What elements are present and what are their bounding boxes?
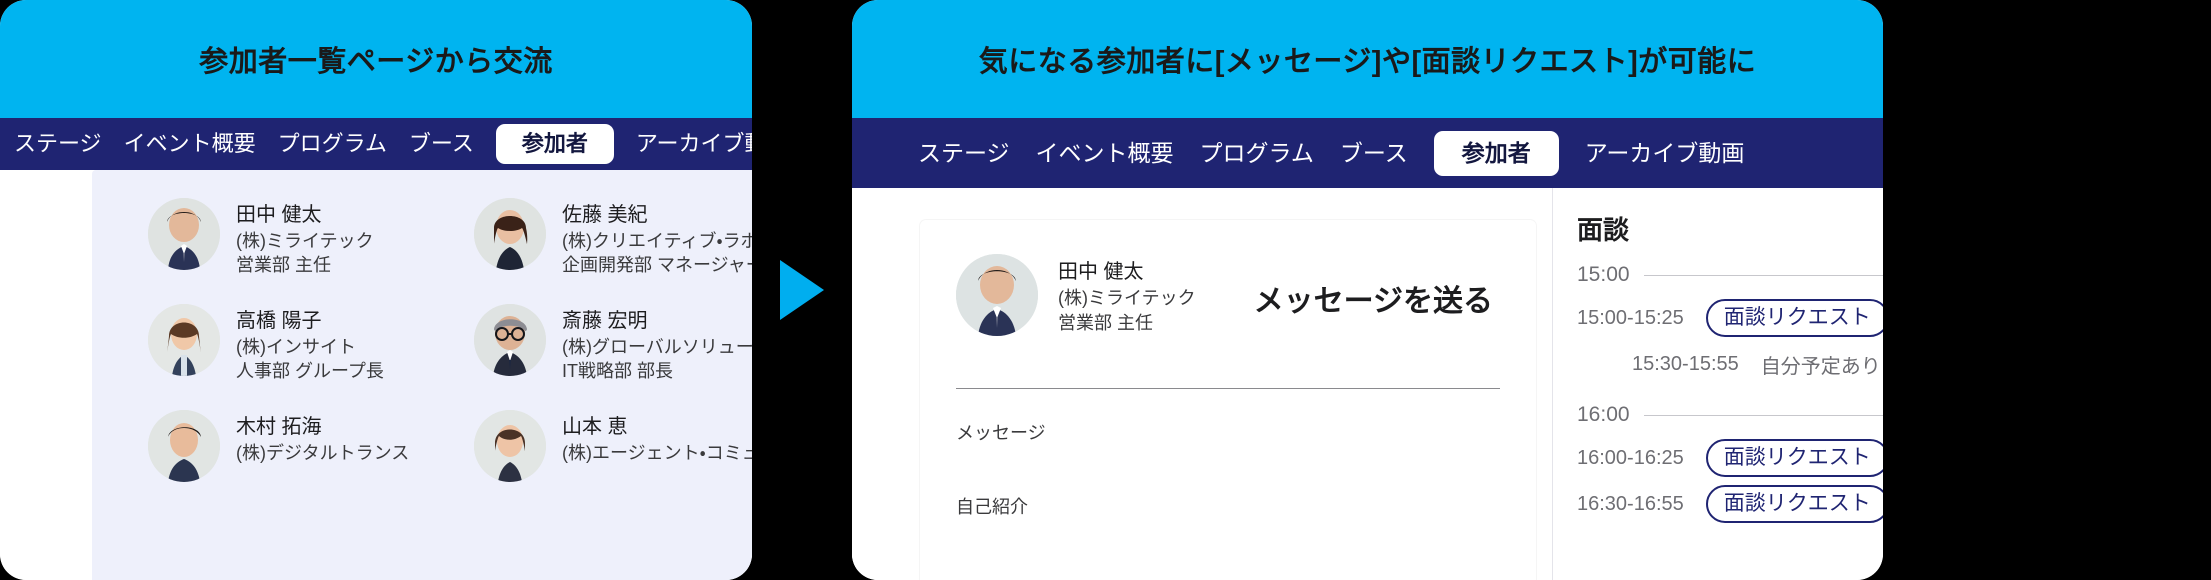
- participant-name: 斎藤 宏明: [562, 308, 752, 335]
- meeting-slot: 16:30-16:55 面談リクエスト: [1577, 481, 1883, 527]
- detail-meta: 田中 健太 (株)ミライテック 営業部 主任: [1058, 254, 1196, 336]
- meeting-request-button[interactable]: 面談リクエスト: [1706, 439, 1883, 477]
- avatar: [956, 254, 1038, 336]
- detail-column: 田中 健太 (株)ミライテック 営業部 主任 メッセージを送る メッセージ 自己…: [852, 188, 1552, 580]
- detail-participant-title: 営業部 主任: [1058, 311, 1196, 336]
- right-panel-caption: 気になる参加者に[メッセージ]や[面談リクエスト]が可能に: [852, 0, 1883, 118]
- nav-item-event-overview[interactable]: イベント概要: [124, 133, 256, 155]
- detail-participant-name: 田中 健太: [1058, 258, 1196, 286]
- hour-label: 15:00: [1577, 263, 1630, 287]
- participant-name: 木村 拓海: [236, 414, 409, 441]
- nav-item-stage[interactable]: ステージ: [918, 142, 1010, 165]
- meeting-request-button[interactable]: 面談リクエスト: [1706, 299, 1883, 337]
- participant-grid: 田中 健太 (株)ミライテック 営業部 主任 佐藤 美紀 (株)ク: [92, 170, 752, 506]
- participant-meta: 山本 恵 (株)エージェント・コミュニケー: [562, 410, 752, 465]
- participant-company: (株)インサイト: [236, 335, 384, 359]
- participant-row: 木村 拓海 (株)デジタルトランス 山本 恵 (株)エージェント: [92, 400, 752, 506]
- participant-company: (株)クリエイティブ・ラボ: [562, 229, 752, 253]
- avatar: [148, 198, 220, 270]
- meeting-panel-title: 面談: [1577, 210, 1883, 247]
- meeting-panel: 面談 15:00 15:00-15:25 面談リクエスト 15:30-15:55…: [1552, 188, 1883, 580]
- nav-item-booth[interactable]: ブース: [1340, 142, 1408, 165]
- participant-meta: 田中 健太 (株)ミライテック 営業部 主任: [236, 198, 374, 278]
- nav-item-program[interactable]: プログラム: [1200, 142, 1314, 165]
- detail-header: 田中 健太 (株)ミライテック 営業部 主任 メッセージを送る: [920, 220, 1536, 336]
- nav-item-participants[interactable]: 参加者: [1434, 131, 1559, 176]
- participant-title: IT戦略部 部長: [562, 359, 752, 383]
- participant-card[interactable]: 田中 健太 (株)ミライテック 営業部 主任: [92, 188, 418, 294]
- participant-meta: 木村 拓海 (株)デジタルトランス: [236, 410, 409, 465]
- right-screenshot-panel: 気になる参加者に[メッセージ]や[面談リクエスト]が可能に ステージ イベント概…: [852, 0, 1883, 580]
- avatar: [474, 304, 546, 376]
- meeting-hour-header: 16:00: [1577, 403, 1883, 427]
- meeting-request-button[interactable]: 面談リクエスト: [1706, 485, 1883, 523]
- avatar: [148, 304, 220, 376]
- participant-name: 佐藤 美紀: [562, 202, 752, 229]
- participant-title: 営業部 主任: [236, 253, 374, 277]
- nav-item-archive-video[interactable]: アーカイブ動画: [636, 133, 752, 155]
- hour-rule: [1644, 415, 1883, 416]
- avatar: [474, 410, 546, 482]
- meeting-slot: 16:00-16:25 面談リクエスト: [1577, 435, 1883, 481]
- nav-item-event-overview[interactable]: イベント概要: [1036, 142, 1174, 165]
- participant-card[interactable]: 木村 拓海 (株)デジタルトランス: [92, 400, 418, 506]
- participant-name: 田中 健太: [236, 202, 374, 229]
- nav-item-program[interactable]: プログラム: [278, 133, 387, 155]
- detail-participant-company: (株)ミライテック: [1058, 286, 1196, 311]
- participant-company: (株)ミライテック: [236, 229, 374, 253]
- hour-label: 16:00: [1577, 403, 1630, 427]
- participant-row: 田中 健太 (株)ミライテック 営業部 主任 佐藤 美紀 (株)ク: [92, 188, 752, 294]
- arrow-separator: [752, 0, 852, 580]
- message-field-label: メッセージ: [920, 389, 1536, 445]
- nav-item-stage[interactable]: ステージ: [14, 133, 102, 155]
- participant-row: 高橋 陽子 (株)インサイト 人事部 グループ長 斎藤 宏明 (株: [92, 294, 752, 400]
- participant-card[interactable]: 山本 恵 (株)エージェント・コミュニケー: [418, 400, 752, 506]
- participant-company: (株)グローバルソリューションズ: [562, 335, 752, 359]
- participant-company: (株)エージェント・コミュニケー: [562, 441, 752, 465]
- slot-time: 16:00-16:25: [1577, 447, 1684, 470]
- right-panel-navbar: ステージ イベント概要 プログラム ブース 参加者 アーカイブ動画: [852, 118, 1883, 188]
- comparison-stage: 参加者一覧ページから交流 ステージ イベント概要 プログラム ブース 参加者 ア…: [0, 0, 2211, 580]
- avatar: [148, 410, 220, 482]
- self-introduction-field-label: 自己紹介: [920, 445, 1536, 519]
- meeting-hour-header: 15:00: [1577, 263, 1883, 287]
- send-message-button[interactable]: メッセージを送る: [1254, 270, 1493, 320]
- participant-list-surface: 田中 健太 (株)ミライテック 営業部 主任 佐藤 美紀 (株)ク: [92, 170, 752, 580]
- meeting-slot: 15:00-15:25 面談リクエスト: [1577, 295, 1883, 341]
- participant-name: 高橋 陽子: [236, 308, 384, 335]
- participant-card[interactable]: 高橋 陽子 (株)インサイト 人事部 グループ長: [92, 294, 418, 400]
- play-triangle-right-icon: [780, 260, 824, 320]
- participant-detail-card: 田中 健太 (株)ミライテック 営業部 主任 メッセージを送る メッセージ 自己…: [920, 220, 1536, 580]
- nav-item-participants[interactable]: 参加者: [496, 124, 614, 164]
- nav-item-archive-video[interactable]: アーカイブ動画: [1585, 142, 1745, 165]
- left-screenshot-panel: 参加者一覧ページから交流 ステージ イベント概要 プログラム ブース 参加者 ア…: [0, 0, 752, 580]
- slot-time: 16:30-16:55: [1577, 493, 1684, 516]
- participant-meta: 佐藤 美紀 (株)クリエイティブ・ラボ 企画開発部 マネージャー: [562, 198, 752, 278]
- participant-card[interactable]: 佐藤 美紀 (株)クリエイティブ・ラボ 企画開発部 マネージャー: [418, 188, 752, 294]
- left-panel-navbar: ステージ イベント概要 プログラム ブース 参加者 アーカイブ動画: [0, 118, 752, 170]
- participant-list-body: 田中 健太 (株)ミライテック 営業部 主任 佐藤 美紀 (株)ク: [0, 170, 752, 580]
- participant-meta: 斎藤 宏明 (株)グローバルソリューションズ IT戦略部 部長: [562, 304, 752, 384]
- slot-time: 15:00-15:25: [1577, 307, 1684, 330]
- participant-title: 企画開発部 マネージャー: [562, 253, 752, 277]
- left-panel-caption: 参加者一覧ページから交流: [0, 0, 752, 118]
- meeting-slot: 15:30-15:55 自分予定あり: [1577, 341, 1883, 387]
- slot-status-note: 自分予定あり: [1761, 350, 1883, 379]
- participant-detail-body: 田中 健太 (株)ミライテック 営業部 主任 メッセージを送る メッセージ 自己…: [852, 188, 1883, 580]
- avatar: [474, 198, 546, 270]
- participant-title: 人事部 グループ長: [236, 359, 384, 383]
- participant-company: (株)デジタルトランス: [236, 441, 409, 465]
- hour-rule: [1644, 275, 1883, 276]
- slot-time: 15:30-15:55: [1632, 353, 1739, 376]
- participant-meta: 高橋 陽子 (株)インサイト 人事部 グループ長: [236, 304, 384, 384]
- participant-card[interactable]: 斎藤 宏明 (株)グローバルソリューションズ IT戦略部 部長: [418, 294, 752, 400]
- participant-name: 山本 恵: [562, 414, 752, 441]
- nav-item-booth[interactable]: ブース: [409, 133, 474, 155]
